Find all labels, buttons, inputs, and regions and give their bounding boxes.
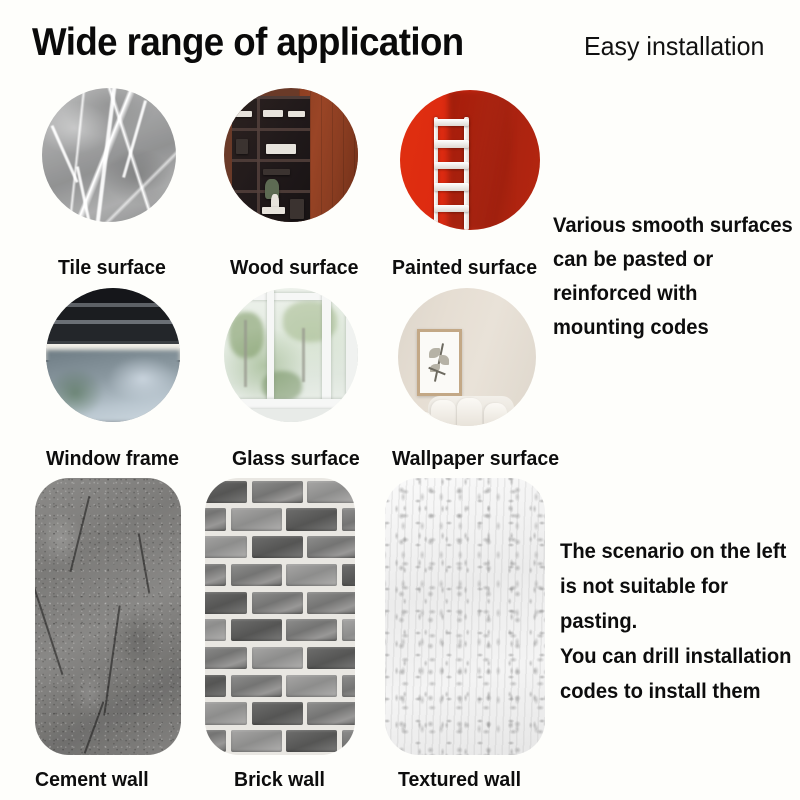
dark-wood-bookshelf-cabinet: [224, 88, 358, 222]
note-line: codes to install them: [560, 674, 792, 709]
media-textured-wall: [385, 478, 545, 755]
framed-art: [417, 329, 462, 396]
note-line: pasting.: [560, 604, 792, 639]
note-line: You can drill installation: [560, 639, 792, 674]
note-line: is not suitable for: [560, 569, 792, 604]
caption-wood-surface: Wood surface: [230, 256, 358, 280]
note-line: The scenario on the left: [560, 534, 792, 569]
caption-brick-wall: Brick wall: [234, 768, 325, 792]
caption-glass-surface: Glass surface: [232, 447, 360, 471]
note-line: Various smooth surfaces: [553, 209, 793, 243]
media-cement-wall: [35, 478, 181, 755]
rough-gray-cement-wall-texture: [35, 478, 181, 755]
media-wallpaper-surface: [398, 288, 536, 426]
gray-marble-tile-texture: [42, 88, 176, 222]
infographic-canvas: Wide range of application Easy installat…: [0, 0, 800, 800]
caption-painted-surface: Painted surface: [392, 256, 537, 280]
ladder-icon: [434, 117, 469, 230]
red-painted-wall-with-white-ladder: [400, 90, 540, 230]
note-line: can be pasted or: [553, 243, 793, 277]
note-smooth-surfaces: Various smooth surfaces can be pasted or…: [553, 209, 800, 345]
page-subtitle: Easy installation: [584, 30, 764, 62]
media-tile-surface: [42, 88, 176, 222]
caption-textured-wall: Textured wall: [398, 768, 521, 792]
caption-cement-wall: Cement wall: [35, 768, 149, 792]
dark-window-frame-closeup: [46, 288, 180, 422]
media-brick-wall: [205, 478, 355, 755]
page-title: Wide range of application: [32, 21, 464, 65]
white-stucco-textured-wall: [385, 478, 545, 755]
note-unsuitable-surfaces: The scenario on the left is not suitable…: [560, 534, 800, 709]
media-window-frame: [46, 288, 180, 422]
caption-tile-surface: Tile surface: [58, 256, 166, 280]
media-wood-surface: [224, 88, 358, 222]
beige-wallpaper-wall-with-framed-art-and-sofa: [398, 288, 536, 426]
caption-window-frame: Window frame: [46, 447, 179, 471]
media-glass-surface: [224, 288, 358, 422]
caption-wallpaper-surface: Wallpaper surface: [392, 447, 559, 471]
gray-brick-wall-with-white-mortar: [205, 478, 355, 755]
note-line: mounting codes: [553, 311, 793, 345]
media-painted-surface: [400, 90, 540, 230]
note-line: reinforced with: [553, 277, 793, 311]
white-window-with-green-trees-outside: [224, 288, 358, 422]
